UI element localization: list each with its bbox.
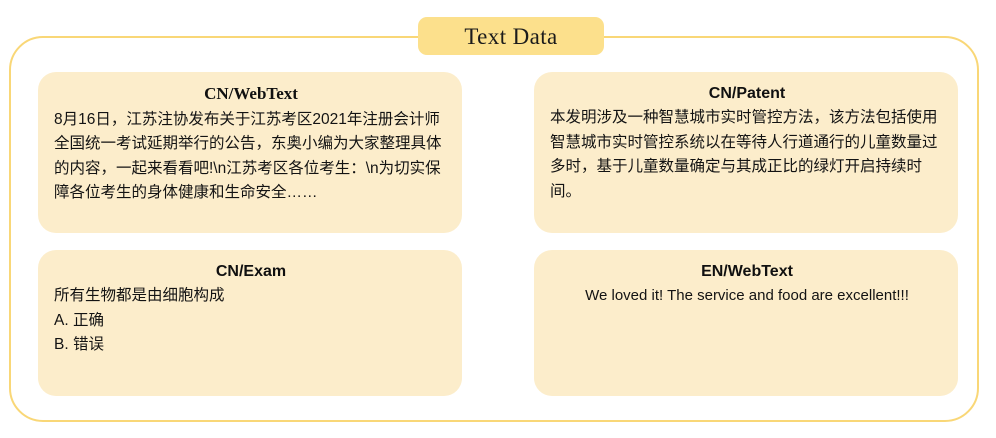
- card-body-cn-patent: 本发明涉及一种智慧城市实时管控方法，该方法包括使用智慧城市实时管控系统以在等待人…: [550, 106, 944, 204]
- text-data-figure: Text Data CN/WebText 8月16日，江苏注协发布关于江苏考区2…: [0, 0, 996, 438]
- card-cn-patent: CN/Patent 本发明涉及一种智慧城市实时管控方法，该方法包括使用智慧城市实…: [534, 72, 958, 233]
- card-title-cn-exam: CN/Exam: [54, 260, 448, 283]
- card-title-cn-patent: CN/Patent: [550, 82, 944, 105]
- card-title-en-webtext: EN/WebText: [550, 260, 944, 283]
- card-body-cn-exam: 所有生物都是由细胞构成 A. 正确 B. 错误: [54, 284, 448, 357]
- card-cn-webtext: CN/WebText 8月16日，江苏注协发布关于江苏考区2021年注册会计师全…: [38, 72, 462, 233]
- card-cn-exam: CN/Exam 所有生物都是由细胞构成 A. 正确 B. 错误: [38, 250, 462, 396]
- exam-option-b: B. 错误: [54, 333, 448, 357]
- card-en-webtext: EN/WebText We loved it! The service and …: [534, 250, 958, 396]
- card-body-cn-webtext: 8月16日，江苏注协发布关于江苏考区2021年注册会计师全国统一考试延期举行的公…: [54, 108, 448, 206]
- figure-title-badge: Text Data: [418, 17, 604, 55]
- card-body-en-webtext: We loved it! The service and food are ex…: [550, 284, 944, 308]
- card-title-cn-webtext: CN/WebText: [54, 82, 448, 107]
- card-grid: CN/WebText 8月16日，江苏注协发布关于江苏考区2021年注册会计师全…: [38, 72, 958, 396]
- figure-title-text: Text Data: [464, 25, 557, 48]
- exam-question: 所有生物都是由细胞构成: [54, 284, 448, 308]
- exam-option-a: A. 正确: [54, 309, 448, 333]
